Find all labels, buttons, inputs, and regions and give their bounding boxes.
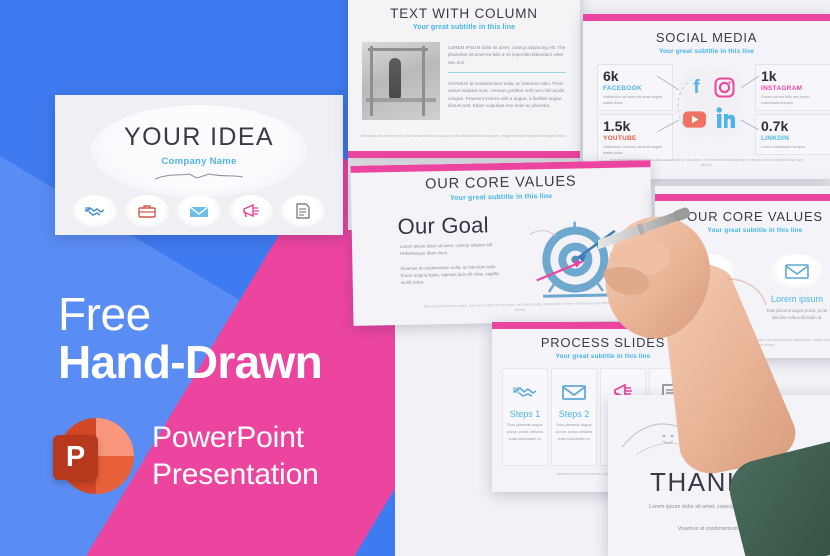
stat-value: 1k [761, 69, 825, 83]
briefcase-icon[interactable] [125, 195, 169, 227]
slide-heading: OUR CORE VALUES [655, 209, 830, 224]
slide-heading: SOCIAL MEDIA [583, 30, 830, 45]
slide-footer: Maecenas sed viverra metus. Sed cursus d… [423, 301, 617, 315]
pink-accent-bar [583, 14, 830, 21]
company-name-subtitle: Company Name [55, 156, 343, 167]
promo-line-free: Free [58, 292, 322, 337]
promo-line-hand-drawn: Hand-Drawn [58, 337, 322, 389]
column-text: Duis placerat augue purus, porta ultrici… [671, 308, 747, 322]
stat-network: INSTAGRAM [761, 85, 825, 92]
slide-our-goal[interactable]: OUR CORE VALUES Your great subtitle in t… [350, 160, 653, 326]
pink-accent-bar [655, 194, 830, 201]
facebook-icon[interactable]: f [685, 76, 708, 99]
stat-text: Vestibulum at lorem sit amet augue matti… [603, 94, 667, 106]
core-value-column: Lorem ipsum Duis placerat augue purus, p… [671, 254, 747, 322]
red-object [389, 58, 401, 98]
slide-heading: OUR CORE VALUES [351, 172, 651, 194]
promo-line-powerpoint: PowerPoint [152, 419, 319, 457]
envelope-icon[interactable] [771, 254, 823, 288]
logo-letter: P [66, 443, 85, 472]
step-heading: Steps 1 [503, 409, 547, 419]
stat-text: Donec rutrum felis nec lorem malesuada t… [761, 94, 825, 106]
pink-accent-bar [492, 322, 714, 329]
process-step-card[interactable]: Steps 2 Duis placerat augue purus, porta… [551, 368, 597, 466]
pink-accent-bar [348, 151, 580, 158]
promo-product-name: PowerPoint Presentation [152, 419, 319, 494]
logo-quadrant-light [96, 418, 134, 456]
social-cloud-cluster: f [675, 64, 747, 146]
stat-network: YOUTUBE [603, 135, 667, 142]
column-text: LOREM IPSUM dolor sit amet, cosecp adipi… [448, 44, 566, 115]
paragraph: LOREM IPSUM dolor sit amet, cosecp adipi… [448, 44, 566, 66]
paragraph: Lorem ipsum dolor sit amet, cosecp adipi… [400, 241, 504, 258]
title-icon-row [73, 195, 325, 227]
slide-subheading: Your great subtitle in this line [348, 24, 580, 31]
stat-card-instagram: 1k INSTAGRAM Donec rutrum felis nec lore… [755, 64, 830, 111]
megaphone-icon[interactable] [229, 195, 273, 227]
connector-line [741, 118, 759, 134]
column-heading: Lorem ipsum [671, 294, 747, 304]
slide-title-your-idea[interactable]: YOUR IDEA Company Name [55, 95, 343, 235]
stat-text: Lorem malesuada tempus. [761, 144, 825, 150]
envelope-icon[interactable] [177, 195, 221, 227]
step-text: Duis placerat augue purus, porta ultrici… [556, 422, 592, 442]
your-idea-title: YOUR IDEA [55, 123, 343, 152]
powerpoint-logo: P [58, 418, 134, 494]
paragraph: Vivamus at condimentum nulla, ac interdu… [400, 262, 504, 286]
connector-line [657, 118, 679, 134]
linkedin-icon[interactable] [715, 106, 738, 129]
youtube-icon[interactable] [683, 108, 706, 131]
slide-footer: Maecenas sed viverra metus. Sed cursus d… [360, 134, 568, 139]
column-heading: Lorem ipsum [759, 294, 830, 304]
connector-line [657, 76, 679, 92]
envelope-icon [552, 375, 596, 409]
step-text: Duis placerat augue purus, porta ultrici… [507, 422, 543, 442]
connector-line [741, 76, 759, 92]
promo-logo-row: P PowerPoint Presentation [58, 418, 319, 494]
workshop-photo [362, 42, 440, 120]
divider-rule [448, 72, 566, 73]
slide-social-media[interactable]: SOCIAL MEDIA Your great subtitle in this… [583, 14, 830, 179]
our-goal-body: Lorem ipsum dolor sit amet, cosecp adipi… [400, 241, 505, 293]
slide-subheading: Your great subtitle in this line [351, 191, 651, 204]
handshake-icon[interactable] [73, 195, 117, 227]
logo-square: P [53, 435, 98, 480]
core-value-column: Lorem ipsum Duis placerat augue purus, p… [759, 254, 830, 322]
dartboard-target-icon [519, 203, 631, 310]
stat-network: LINKDIN [761, 135, 825, 142]
document-icon[interactable] [281, 195, 325, 227]
handshake-icon[interactable] [683, 254, 735, 288]
step-heading: Steps 2 [552, 409, 596, 419]
slide-subheading: Your great subtitle in this line [492, 353, 714, 360]
stat-value: 0.7k [761, 119, 825, 133]
paragraph: VIVAMUS at condimentum nulla, ac interdu… [448, 80, 566, 109]
thumbs-up-icon [704, 397, 748, 441]
underline-squiggle-icon [153, 171, 245, 181]
promo-line-presentation: Presentation [152, 456, 319, 494]
process-step-card[interactable]: Steps 1 Duis placerat augue purus, porta… [502, 368, 548, 466]
column-text: Duis placerat augue purus, porta ultrici… [759, 308, 830, 322]
slide-heading: PROCESS SLIDES [492, 335, 714, 350]
instagram-icon[interactable] [713, 76, 736, 99]
slide-subheading: Your great subtitle in this line [655, 227, 830, 234]
stat-text: Vestibulum at lorem sit amet augue matti… [603, 144, 667, 156]
handshake-icon [503, 375, 547, 409]
slide-subheading: Your great subtitle in this line [583, 48, 830, 55]
promo-text-block: Free Hand-Drawn [58, 292, 322, 389]
our-goal-heading: Our Goal [397, 212, 489, 240]
slide-text-with-column[interactable]: TEXT WITH COLUMN Your great subtitle in … [348, 0, 580, 158]
logo-quadrant-mid [96, 456, 134, 494]
stat-card-linkedin: 0.7k LINKDIN Lorem malesuada tempus. [755, 114, 830, 155]
promo-banner: YOUR IDEA Company Name [0, 0, 830, 556]
slide-heading: TEXT WITH COLUMN [348, 6, 580, 21]
